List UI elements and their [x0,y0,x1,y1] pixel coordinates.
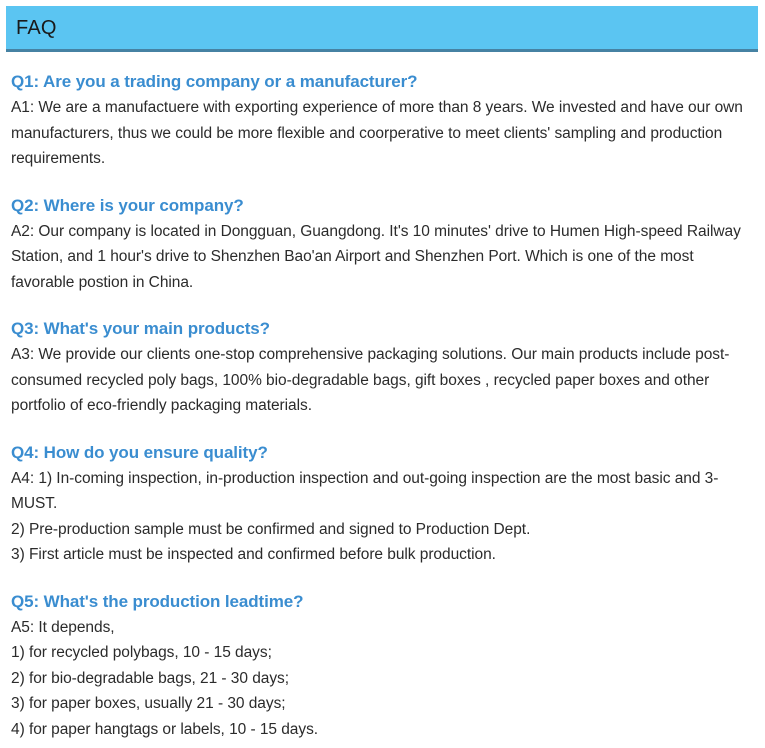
faq-item: Q4: How do you ensure quality? A4: 1) In… [11,440,753,568]
faq-question: Q5: What's the production leadtime? [11,589,753,614]
faq-answer-line: A2: Our company is located in Dongguan, … [11,219,753,296]
faq-answer-line: A4: 1) In-coming inspection, in-producti… [11,466,753,517]
faq-banner: FAQ [6,6,758,52]
faq-answer-line: 2) for bio-degradable bags, 21 - 30 days… [11,666,753,692]
faq-answer-line: 3) for paper boxes, usually 21 - 30 days… [11,691,753,717]
faq-answer-line: 3) First article must be inspected and c… [11,542,753,568]
faq-answer: A4: 1) In-coming inspection, in-producti… [11,466,753,568]
faq-answer-line: 2) Pre-production sample must be confirm… [11,517,753,543]
faq-answer-line: 1) for recycled polybags, 10 - 15 days; [11,640,753,666]
faq-answer-line: A5: It depends, [11,615,753,641]
faq-answer: A3: We provide our clients one-stop comp… [11,342,753,419]
faq-answer: A5: It depends, 1) for recycled polybags… [11,615,753,743]
faq-answer-line: A1: We are a manufactuere with exporting… [11,95,753,172]
faq-item: Q1: Are you a trading company or a manuf… [11,69,753,172]
faq-answer-line: A3: We provide our clients one-stop comp… [11,342,753,419]
faq-answer: A2: Our company is located in Dongguan, … [11,219,753,296]
faq-answer-line: 4) for paper hangtags or labels, 10 - 15… [11,717,753,743]
faq-answer: A1: We are a manufactuere with exporting… [11,95,753,172]
faq-item: Q5: What's the production leadtime? A5: … [11,589,753,743]
faq-question: Q2: Where is your company? [11,193,753,218]
faq-question: Q3: What's your main products? [11,316,753,341]
faq-item: Q2: Where is your company? A2: Our compa… [11,193,753,296]
faq-page: FAQ Q1: Are you a trading company or a m… [0,0,765,748]
faq-banner-title: FAQ [6,18,57,38]
faq-list: Q1: Are you a trading company or a manuf… [11,69,753,742]
faq-question: Q4: How do you ensure quality? [11,440,753,465]
faq-question: Q1: Are you a trading company or a manuf… [11,69,753,94]
faq-item: Q3: What's your main products? A3: We pr… [11,316,753,419]
